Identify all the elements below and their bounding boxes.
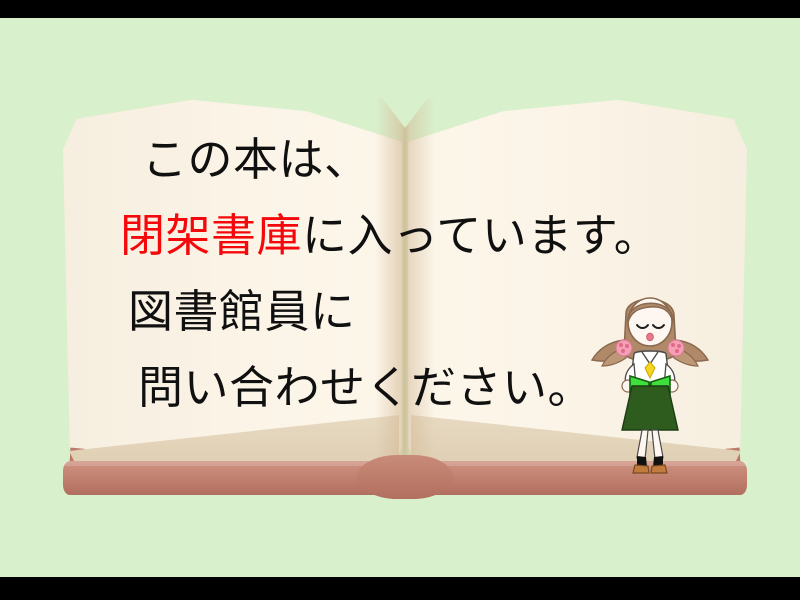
notice-line-1: この本は、 [120, 122, 720, 198]
notice-line-2: 閉架書庫に入っています。 [120, 198, 720, 274]
notice-line-2-rest: に入っています。 [302, 209, 659, 262]
slide-stage: この本は、 閉架書庫に入っています。 図書館員に 問い合わせください。 [0, 18, 800, 577]
letterbox-bottom-bar [0, 577, 800, 600]
book-spine-bump [357, 455, 453, 499]
letterbox-top-bar [0, 0, 800, 18]
slide-canvas: この本は、 閉架書庫に入っています。 図書館員に 問い合わせください。 [0, 0, 800, 600]
notice-highlight-term: 閉架書庫 [120, 209, 302, 262]
girl-reading-icon [590, 278, 710, 478]
